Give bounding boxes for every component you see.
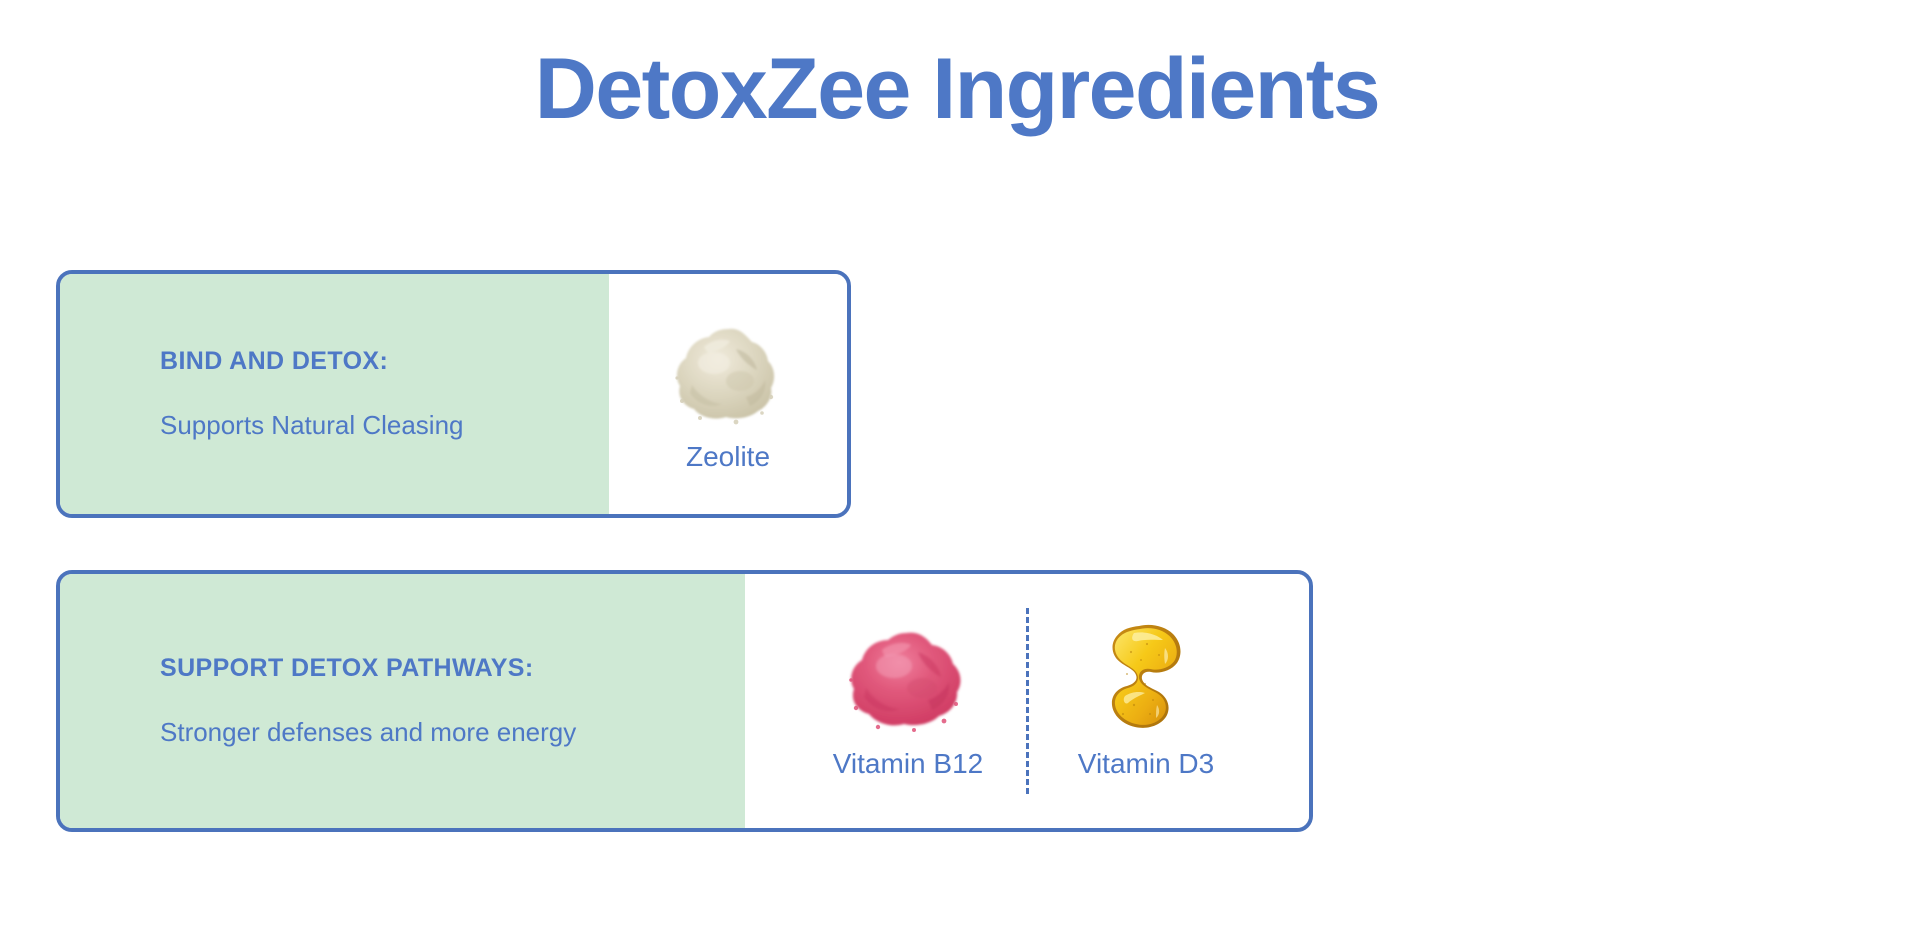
vitamin-b12-powder-mound-icon [846,622,970,734]
ingredient-card-bind-detox: BIND AND DETOX: Supports Natural Cleasin… [56,270,851,518]
vitamin-d3-oil-blob-icon [1101,622,1191,734]
card-text-panel: SUPPORT DETOX PATHWAYS: Stronger defense… [60,574,745,828]
card-heading: BIND AND DETOX: [160,347,609,376]
ingredient-label: Vitamin B12 [833,748,983,780]
card-heading: SUPPORT DETOX PATHWAYS: [160,654,745,683]
card-subtext: Stronger defenses and more energy [160,717,745,748]
card-media-panel: Vitamin B12 [745,574,1309,828]
card-subtext: Supports Natural Cleasing [160,410,609,441]
card-text-panel: BIND AND DETOX: Supports Natural Cleasin… [60,274,609,514]
ingredient-card-support-detox-pathways: SUPPORT DETOX PATHWAYS: Stronger defense… [56,570,1313,832]
zeolite-powder-mound-icon [670,315,786,427]
ingredient-vitamin-d3: Vitamin D3 [1029,622,1264,780]
ingredient-vitamin-b12: Vitamin B12 [791,622,1026,780]
page-title: DetoxZee Ingredients [0,44,1914,134]
ingredient-zeolite: Zeolite [611,315,846,473]
ingredient-label: Zeolite [686,441,770,473]
ingredient-label: Vitamin D3 [1078,748,1214,780]
card-media-panel: Zeolite [609,274,847,514]
